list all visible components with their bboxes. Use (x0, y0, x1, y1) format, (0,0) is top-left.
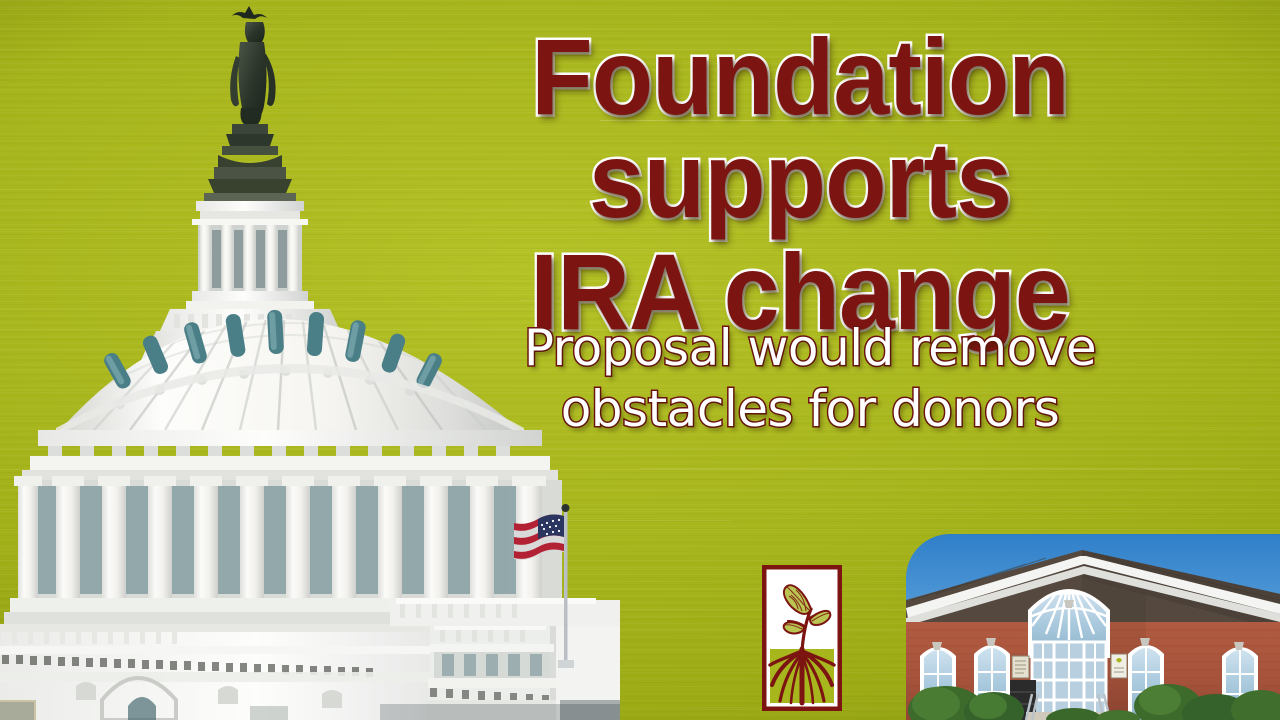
subtitle: Proposal would remove obstacles for dono… (430, 318, 1190, 440)
subtitle-line-1: Proposal would remove (430, 318, 1190, 379)
headline-line-1: Foundation supports (363, 26, 1237, 231)
foundation-logo (762, 565, 842, 711)
headline: Foundation supports IRA change (330, 26, 1270, 344)
dome-pedestal (204, 124, 296, 201)
dome-cupola (186, 201, 314, 309)
capitol-facade (0, 624, 620, 720)
statue-of-freedom (230, 6, 275, 124)
building-photo (906, 534, 1280, 720)
dome-peristyle (4, 430, 572, 624)
promo-graphic: Foundation supports IRA change Proposal … (0, 0, 1280, 720)
capitol-terrace (390, 598, 620, 626)
subtitle-line-2: obstacles for donors (430, 379, 1190, 440)
